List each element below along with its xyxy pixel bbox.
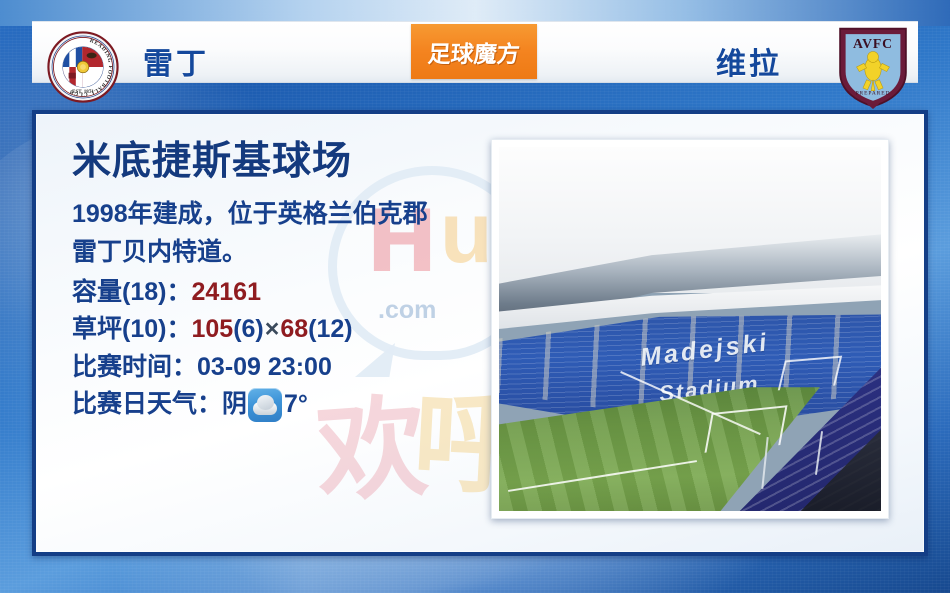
stadium-description-line-2: 雷丁贝内特道。 <box>72 235 492 271</box>
weather-temperature: 7° <box>284 386 308 424</box>
reading-fc-crest-icon: READING FOOTBALL CLUB EST. 1871 <box>47 31 119 103</box>
weather-condition: 阴 <box>222 386 247 424</box>
home-team-name: 雷丁 <box>143 39 209 83</box>
pitch-length-rank: (6) <box>233 315 264 343</box>
capacity-label: 容量(18)： <box>72 278 191 306</box>
capacity-row: 容量(18)：24161 <box>72 274 492 312</box>
match-header: READING FOOTBALL CLUB EST. 1871 <box>0 21 950 81</box>
stadium-description-line-1: 1998年建成，位于英格兰伯克郡 <box>72 197 492 233</box>
away-team-name: 维拉 <box>716 39 782 83</box>
svg-text:PREPARED: PREPARED <box>856 90 891 96</box>
match-time-value: 03-09 23:00 <box>197 353 332 381</box>
site-logo[interactable]: 足球魔方 <box>411 24 537 79</box>
svg-text:EST. 1871: EST. 1871 <box>72 89 94 95</box>
capacity-value: 24161 <box>191 278 261 306</box>
pitch-label: 草坪(10)： <box>72 315 191 343</box>
svg-text:AVFC: AVFC <box>853 36 893 51</box>
pitch-width: 68 <box>280 315 308 343</box>
weather-row: 比赛日天气：阴7° <box>72 386 492 424</box>
match-time-row: 比赛时间：03-09 23:00 <box>72 349 492 387</box>
weather-label: 比赛日天气： <box>72 386 222 424</box>
stadium-info-card: READING FOOTBALL CLUB EST. 1871 <box>0 0 950 593</box>
content-panel: H u .com 欢 呼 米底捷斯基球场 1998年建成，位于英格兰伯克郡 雷丁… <box>32 110 928 556</box>
pitch-length: 105 <box>191 315 233 343</box>
stadium-title: 米底捷斯基球场 <box>72 142 492 183</box>
madejski-stadium-photo: Madejski Stadium <box>499 147 881 511</box>
match-time-label: 比赛时间： <box>72 353 197 381</box>
photo-goal-far <box>777 356 841 391</box>
stadium-info-column: 米底捷斯基球场 1998年建成，位于英格兰伯克郡 雷丁贝内特道。 容量(18)：… <box>72 142 492 424</box>
aston-villa-crest-icon: AVFC PREPARED <box>836 25 910 109</box>
pitch-width-rank: (12) <box>308 315 352 343</box>
pitch-row: 草坪(10)：105(6)×68(12) <box>72 311 492 349</box>
stadium-photo-frame: Madejski Stadium <box>491 139 889 519</box>
site-logo-text: 足球魔方 <box>427 35 521 69</box>
pitch-separator: × <box>264 315 281 343</box>
photo-goal-near <box>705 405 788 453</box>
cloudy-icon <box>248 388 282 422</box>
